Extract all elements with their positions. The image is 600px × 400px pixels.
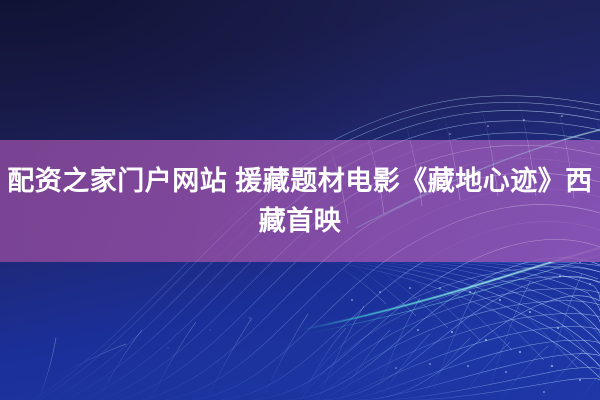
banner-title-line-1: 配资之家门户网站 援藏题材电影《藏地心迹》西 [7, 162, 593, 200]
banner-title: 配资之家门户网站 援藏题材电影《藏地心迹》西 藏首映 [0, 140, 600, 262]
banner-image: 配资之家门户网站 援藏题材电影《藏地心迹》西 藏首映 [0, 0, 600, 400]
banner-title-line-2: 藏首映 [259, 202, 342, 240]
